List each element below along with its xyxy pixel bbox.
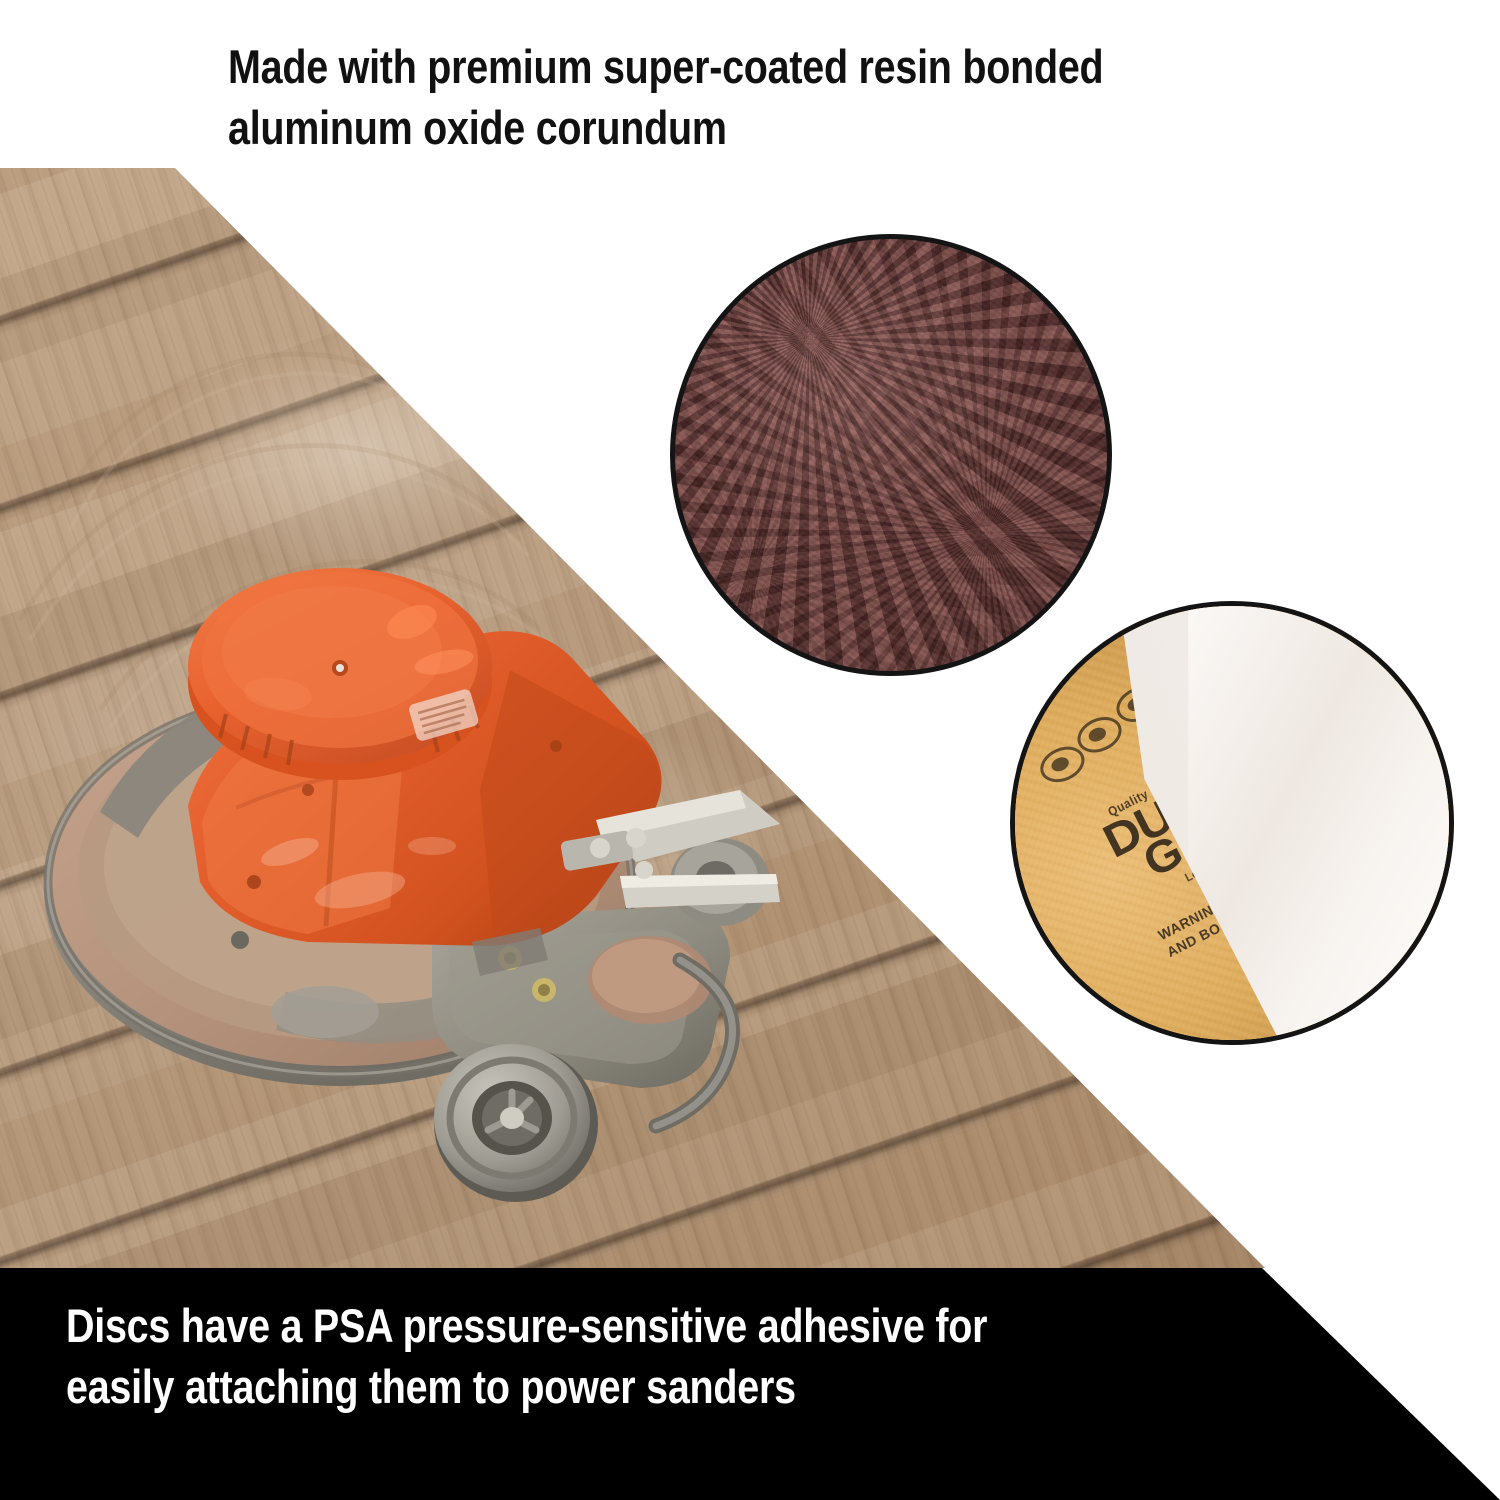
top-caption-text: Made with premium super-coated resin bon… <box>228 36 1219 158</box>
floor-buffer-machine <box>40 490 780 1210</box>
psa-backing-closeup-circle: Quality Abrasives DURA GOLD Long Lasting… <box>1010 601 1454 1045</box>
bottom-caption-text: Discs have a PSA pressure-sensitive adhe… <box>66 1295 1082 1417</box>
product-feature-panel: Made with premium super-coated resin bon… <box>0 0 1500 1500</box>
